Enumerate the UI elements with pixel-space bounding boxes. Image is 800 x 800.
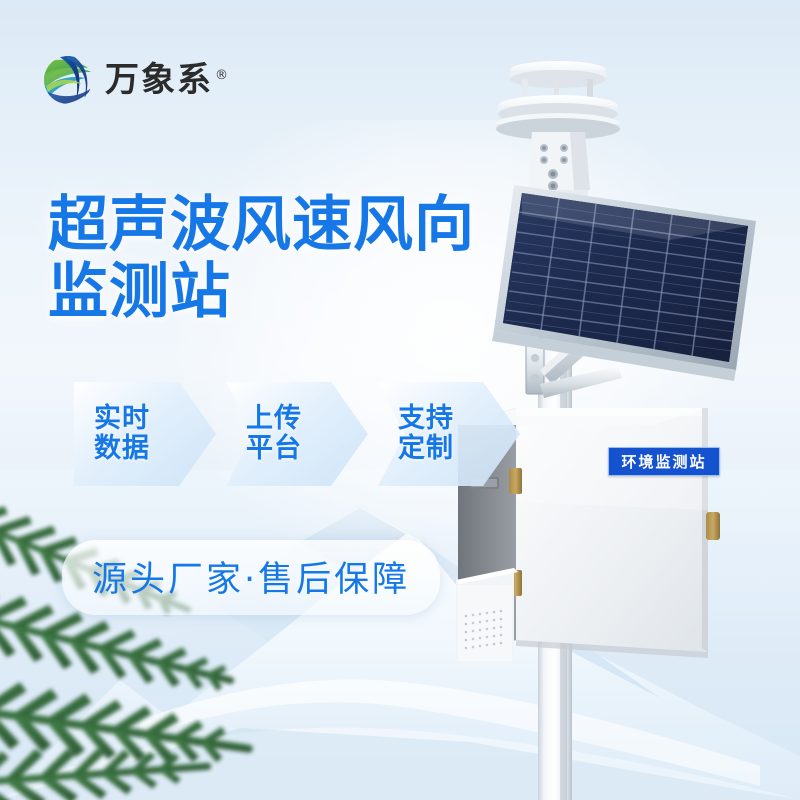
cabinet-nameplate: 环境监测站: [608, 447, 720, 476]
banner-stage: 环境监测站: [0, 0, 800, 800]
badge-line-1: 上传: [246, 404, 302, 434]
badge-line-2: 数据: [94, 434, 150, 464]
registered-trademark-icon: ®: [215, 68, 230, 83]
title-line-1: 超声波风速风向: [48, 190, 475, 260]
badge-label: 上传 平台: [246, 404, 302, 464]
badge-line-1: 实时: [94, 404, 150, 434]
badge-label: 支持 定制: [398, 404, 454, 464]
badge-line-1: 支持: [398, 404, 454, 434]
tagline-banner: 源头厂家·售后保障: [62, 540, 440, 615]
badge-realtime-data[interactable]: 实时 数据: [74, 382, 216, 486]
brand-name: 万象系®: [105, 63, 230, 97]
badge-line-2: 定制: [398, 434, 454, 464]
badge-custom-support[interactable]: 支持 定制: [378, 382, 520, 486]
title-line-2: 监测站: [48, 259, 488, 326]
badge-upload-platform[interactable]: 上传 平台: [226, 382, 368, 486]
brand-name-text: 万象系: [105, 60, 213, 100]
brand-logo[interactable]: 万象系®: [40, 52, 230, 108]
badge-line-2: 平台: [246, 434, 302, 464]
badge-label: 实时 数据: [94, 404, 150, 464]
feature-badge-list: 实时 数据 上传 平台 支持 定制: [74, 382, 520, 486]
globe-swirl-logo-icon: [40, 52, 96, 108]
page-title: 超声波风速风向 监测站: [48, 192, 488, 326]
